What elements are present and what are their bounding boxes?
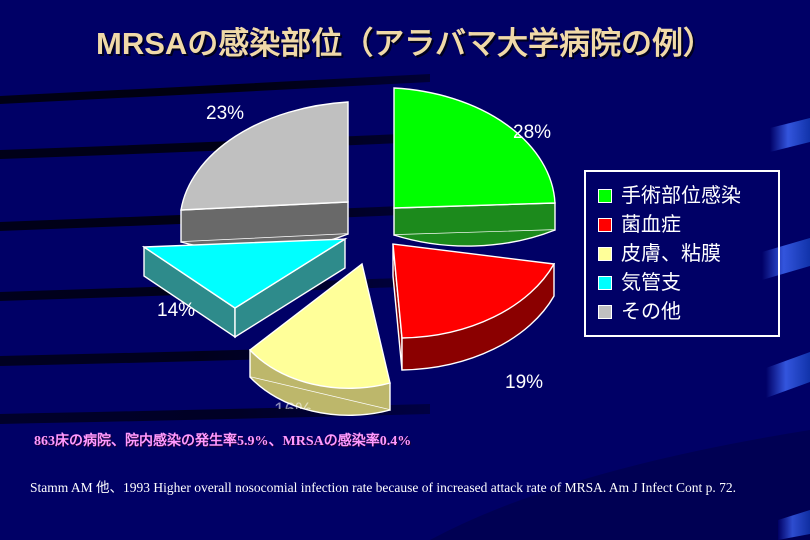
legend-item-skin-mucosa[interactable]: 皮膚、粘膜 (598, 239, 768, 268)
legend-swatch-yellow (598, 247, 612, 261)
chart-legend: 手術部位感染 菌血症 皮膚、粘膜 気管支 その他 (584, 170, 780, 337)
pie-chart: 28% 19% 16% 14% 23% (140, 80, 580, 430)
legend-label-bronchus: 気管支 (621, 273, 681, 293)
pie-label-bacteremia: 19% (505, 372, 543, 394)
pie-slice-surgical-site (394, 88, 555, 246)
legend-label-skin-mucosa: 皮膚、粘膜 (621, 244, 721, 264)
legend-swatch-cyan (598, 276, 612, 290)
legend-swatch-red (598, 218, 612, 232)
presentation-slide: MRSAの感染部位（アラバマ大学病院の例） (0, 0, 810, 540)
legend-item-surgical-site[interactable]: 手術部位感染 (598, 181, 768, 210)
pie-label-skin-mucosa: 16% (274, 400, 312, 409)
pie-label-surgical-site: 28% (513, 122, 551, 144)
legend-item-bronchus[interactable]: 気管支 (598, 268, 768, 297)
legend-label-bacteremia: 菌血症 (621, 215, 681, 235)
legend-swatch-green (598, 189, 612, 203)
legend-item-other[interactable]: その他 (598, 297, 768, 326)
slide-title: MRSAの感染部位（アラバマ大学病院の例） (0, 18, 810, 63)
legend-item-bacteremia[interactable]: 菌血症 (598, 210, 768, 239)
pie-label-other: 23% (206, 103, 244, 125)
pie-slice-bacteremia (393, 244, 554, 370)
legend-label-surgical-site: 手術部位感染 (621, 186, 741, 206)
legend-swatch-gray (598, 305, 612, 319)
footnote-statistics: 863床の病院、院内感染の発生率5.9%、MRSAの感染率0.4% (34, 430, 411, 450)
legend-label-other: その他 (621, 302, 681, 322)
citation-reference: Stamm AM 他、1993 Higher overall nosocomia… (30, 478, 790, 498)
pie-label-bronchus: 14% (157, 300, 195, 322)
